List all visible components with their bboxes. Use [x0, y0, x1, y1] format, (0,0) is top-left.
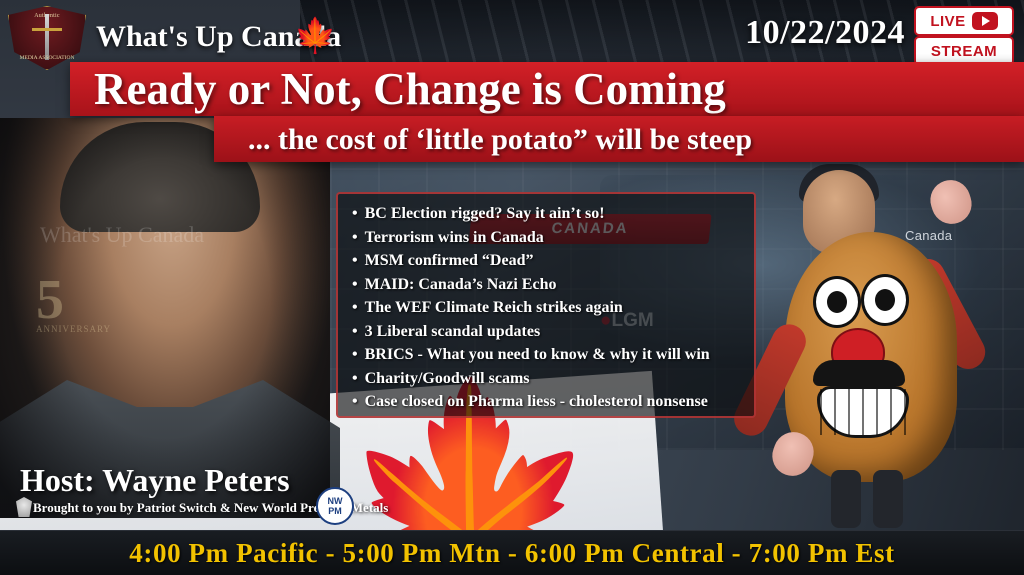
nwpm-line2: PM: [328, 506, 342, 516]
nwpm-logo: NW PM: [316, 487, 354, 525]
host-credit: Host: Wayne Peters: [20, 462, 290, 499]
main-title-banner: Ready or Not, Change is Coming: [70, 62, 1024, 116]
topics-list: BC Election rigged? Say it ain’t so! Ter…: [352, 202, 744, 414]
list-item: BC Election rigged? Say it ain’t so!: [352, 202, 744, 226]
list-item: 3 Liberal scandal updates: [352, 320, 744, 344]
nwpm-line1: NW: [328, 496, 343, 506]
list-item: Charity/Goodwill scams: [352, 367, 744, 391]
airtime-text: 4:00 Pm Pacific - 5:00 Pm Mtn - 6:00 Pm …: [129, 538, 894, 569]
mascot-pupil-left: [827, 291, 847, 313]
list-item: BRICS - What you need to know & why it w…: [352, 343, 744, 367]
mascot-eye-right: [861, 274, 909, 326]
show-watermark: What's Up Canada: [40, 222, 204, 248]
stream-badge-label: STREAM: [931, 43, 997, 60]
list-item: The WEF Climate Reich strikes again: [352, 296, 744, 320]
sword-icon: [45, 14, 49, 60]
subtitle-text: ... the cost of ‘little potato” will be …: [214, 116, 1024, 164]
airtime-bar: 4:00 Pm Pacific - 5:00 Pm Mtn - 6:00 Pm …: [0, 530, 1024, 575]
play-triangle-icon: [982, 16, 990, 26]
subtitle-banner: ... the cost of ‘little potato” will be …: [214, 116, 1024, 162]
air-date: 10/22/2024: [745, 14, 905, 52]
logo-bottom-text: MEDIA ASSOCIATION: [8, 55, 86, 61]
mascot-teeth: [820, 389, 906, 435]
anniversary-watermark: 5 ANNIVERSARY: [36, 276, 111, 334]
mascot-hand-right: [925, 175, 977, 229]
broadcast-thumbnail: Canada CANADA ●LGM 🍁 🍁 What's Up Canada …: [0, 0, 1024, 575]
anniversary-number: 5: [36, 276, 111, 324]
topics-panel: BC Election rigged? Say it ain’t so! Ter…: [336, 192, 756, 418]
youtube-icon: [972, 12, 998, 30]
list-item: Terrorism wins in Canada: [352, 226, 744, 250]
mascot-leg-left: [831, 470, 861, 528]
main-title-text: Ready or Not, Change is Coming: [70, 62, 1024, 116]
mascot-mouth: [817, 386, 909, 438]
list-item: Case closed on Pharma liess - cholestero…: [352, 390, 744, 414]
list-item: MSM confirmed “Dead”: [352, 249, 744, 273]
live-badge: LIVE: [914, 6, 1014, 36]
potato-mascot: [745, 170, 980, 530]
mascot-eye-left: [813, 276, 861, 328]
association-logo: Authentic MEDIA ASSOCIATION: [8, 6, 86, 70]
list-item: MAID: Canada’s Nazi Echo: [352, 273, 744, 297]
mascot-mustache: [813, 360, 905, 386]
sword-guard-icon: [32, 28, 62, 31]
mascot-leg-right: [873, 470, 903, 528]
live-badge-label: LIVE: [930, 13, 965, 30]
maple-leaf-icon: 🍁: [294, 16, 336, 56]
mascot-pupil-right: [875, 289, 895, 311]
anniversary-label: ANNIVERSARY: [36, 324, 111, 334]
